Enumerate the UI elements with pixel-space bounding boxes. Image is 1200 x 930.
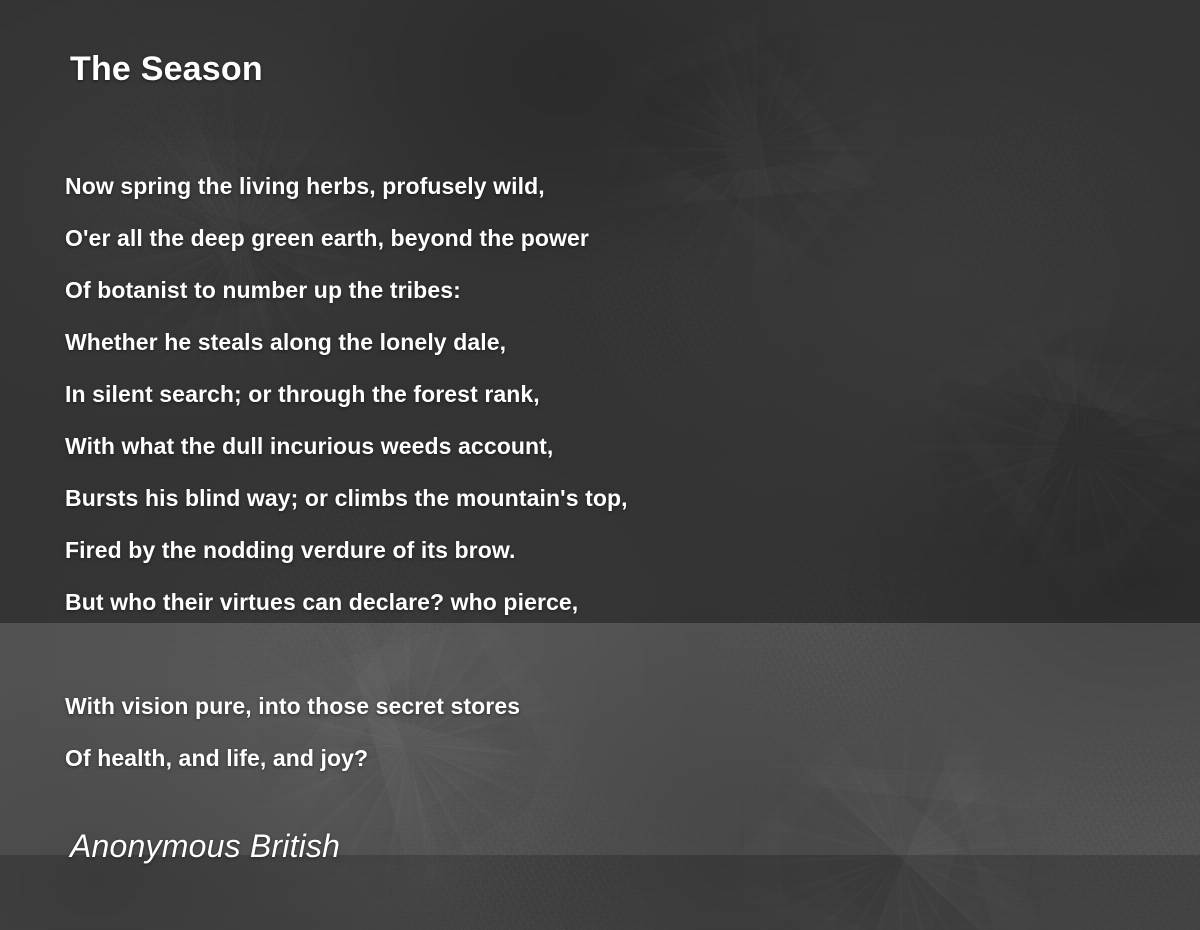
poem-body: Now spring the living herbs, profusely w… bbox=[65, 160, 1135, 784]
poem-line: Whether he steals along the lonely dale, bbox=[65, 316, 1135, 368]
poem-line: Now spring the living herbs, profusely w… bbox=[65, 160, 1135, 212]
stanza-break bbox=[65, 628, 1135, 680]
poem-line: With what the dull incurious weeds accou… bbox=[65, 420, 1135, 472]
poem-content: The Season Now spring the living herbs, … bbox=[0, 0, 1200, 930]
poem-line: O'er all the deep green earth, beyond th… bbox=[65, 212, 1135, 264]
poem-line: But who their virtues can declare? who p… bbox=[65, 576, 1135, 628]
poem-line: Fired by the nodding verdure of its brow… bbox=[65, 524, 1135, 576]
poem-author: Anonymous British bbox=[70, 828, 340, 865]
poem-line: With vision pure, into those secret stor… bbox=[65, 680, 1135, 732]
poem-line: Of botanist to number up the tribes: bbox=[65, 264, 1135, 316]
poem-line: In silent search; or through the forest … bbox=[65, 368, 1135, 420]
poem-title: The Season bbox=[70, 48, 263, 90]
poem-card: The Season Now spring the living herbs, … bbox=[0, 0, 1200, 930]
poem-line: Bursts his blind way; or climbs the moun… bbox=[65, 472, 1135, 524]
poem-line: Of health, and life, and joy? bbox=[65, 732, 1135, 784]
